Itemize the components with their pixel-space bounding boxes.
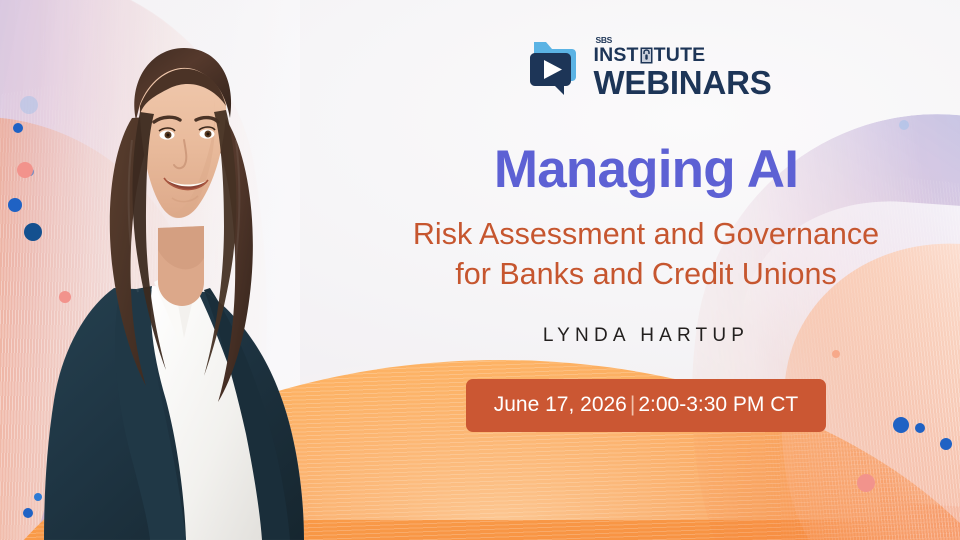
webinar-play-logo-icon <box>520 38 584 98</box>
webinar-date: June 17, 2026 <box>494 393 627 416</box>
logo-institute-pre: INST <box>593 46 638 66</box>
sbs-institute-webinars-logo[interactable]: SBS INST TUTE WEBINARS <box>520 36 771 99</box>
date-time-badge[interactable]: June 17, 2026|2:00-3:30 PM CT <box>466 379 827 432</box>
logo-institute-text: INST TUTE <box>593 46 705 66</box>
badge-separator: | <box>627 393 638 416</box>
speaker-portrait <box>28 20 328 540</box>
content-column: SBS INST TUTE WEBINARS M <box>332 0 960 540</box>
webinar-promo-slide: SBS INST TUTE WEBINARS M <box>0 0 960 540</box>
speaker-name: LYNDA HARTUP <box>543 325 749 347</box>
webinar-subtitle: Risk Assessment and Governance for Banks… <box>413 214 879 295</box>
subtitle-line-2: for Banks and Credit Unions <box>413 254 879 294</box>
logo-webinars-text: WEBINARS <box>593 66 771 99</box>
logo-institute-post: TUTE <box>654 46 706 66</box>
logo-wordmark: SBS INST TUTE WEBINARS <box>593 36 771 99</box>
webinar-title: Managing AI <box>494 143 798 196</box>
padlock-icon <box>640 47 653 64</box>
webinar-time: 2:00-3:30 PM CT <box>638 393 798 416</box>
subtitle-line-1: Risk Assessment and Governance <box>413 214 879 254</box>
